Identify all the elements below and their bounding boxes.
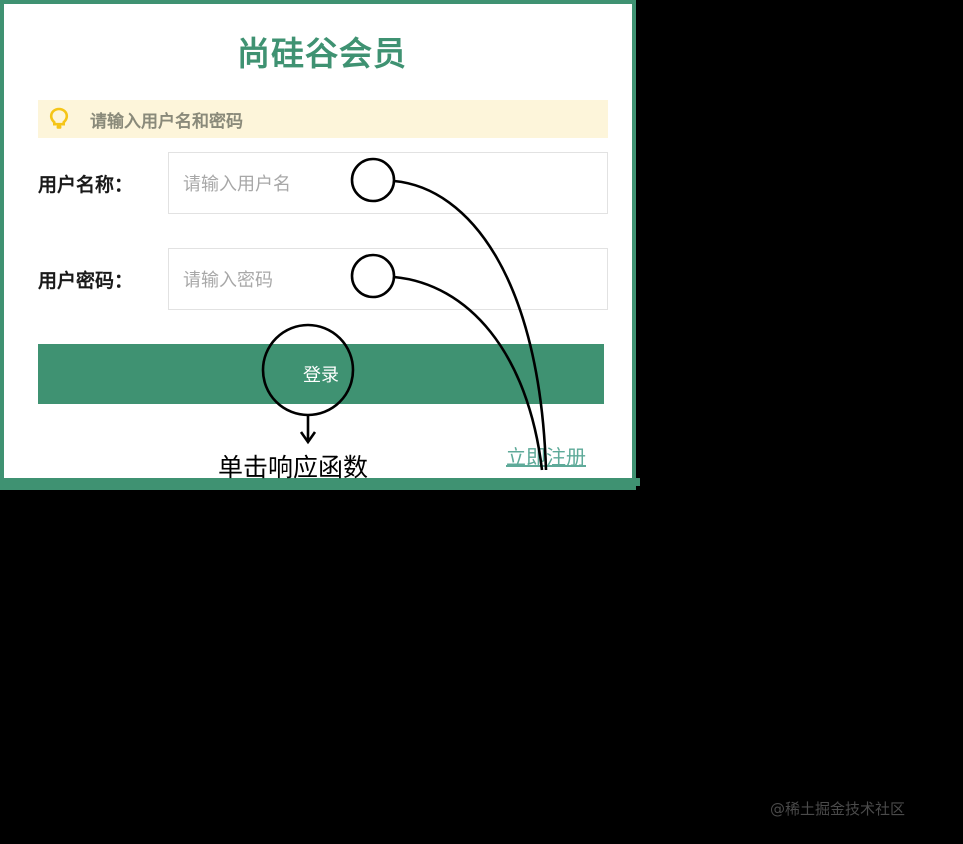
page-title: 尚硅谷会员 <box>4 32 640 76</box>
username-input[interactable]: 请输入用户名 <box>168 152 608 214</box>
login-button[interactable]: 登录 <box>38 344 604 404</box>
register-link[interactable]: 立即注册 <box>506 441 586 470</box>
watermark: @稀土掘金技术社区 <box>770 798 905 819</box>
form-row-username: 用户名称： 请输入用户名 <box>38 152 608 214</box>
annotation-click-handler-note: 单击响应函数 <box>218 448 368 484</box>
username-label: 用户名称： <box>38 170 168 197</box>
lightbulb-icon <box>46 106 72 132</box>
login-card: 尚硅谷会员 请输入用户名和密码 用户名称： 请输入用户名 用户密码： 请输入密码… <box>0 0 636 490</box>
hint-alert-text: 请输入用户名和密码 <box>90 107 243 132</box>
login-card-body: 尚硅谷会员 请输入用户名和密码 用户名称： 请输入用户名 用户密码： 请输入密码… <box>4 4 632 486</box>
password-input[interactable]: 请输入密码 <box>168 248 608 310</box>
hint-alert-bar: 请输入用户名和密码 <box>38 100 608 138</box>
password-label: 用户密码： <box>38 266 168 293</box>
form-row-password: 用户密码： 请输入密码 <box>38 248 608 310</box>
